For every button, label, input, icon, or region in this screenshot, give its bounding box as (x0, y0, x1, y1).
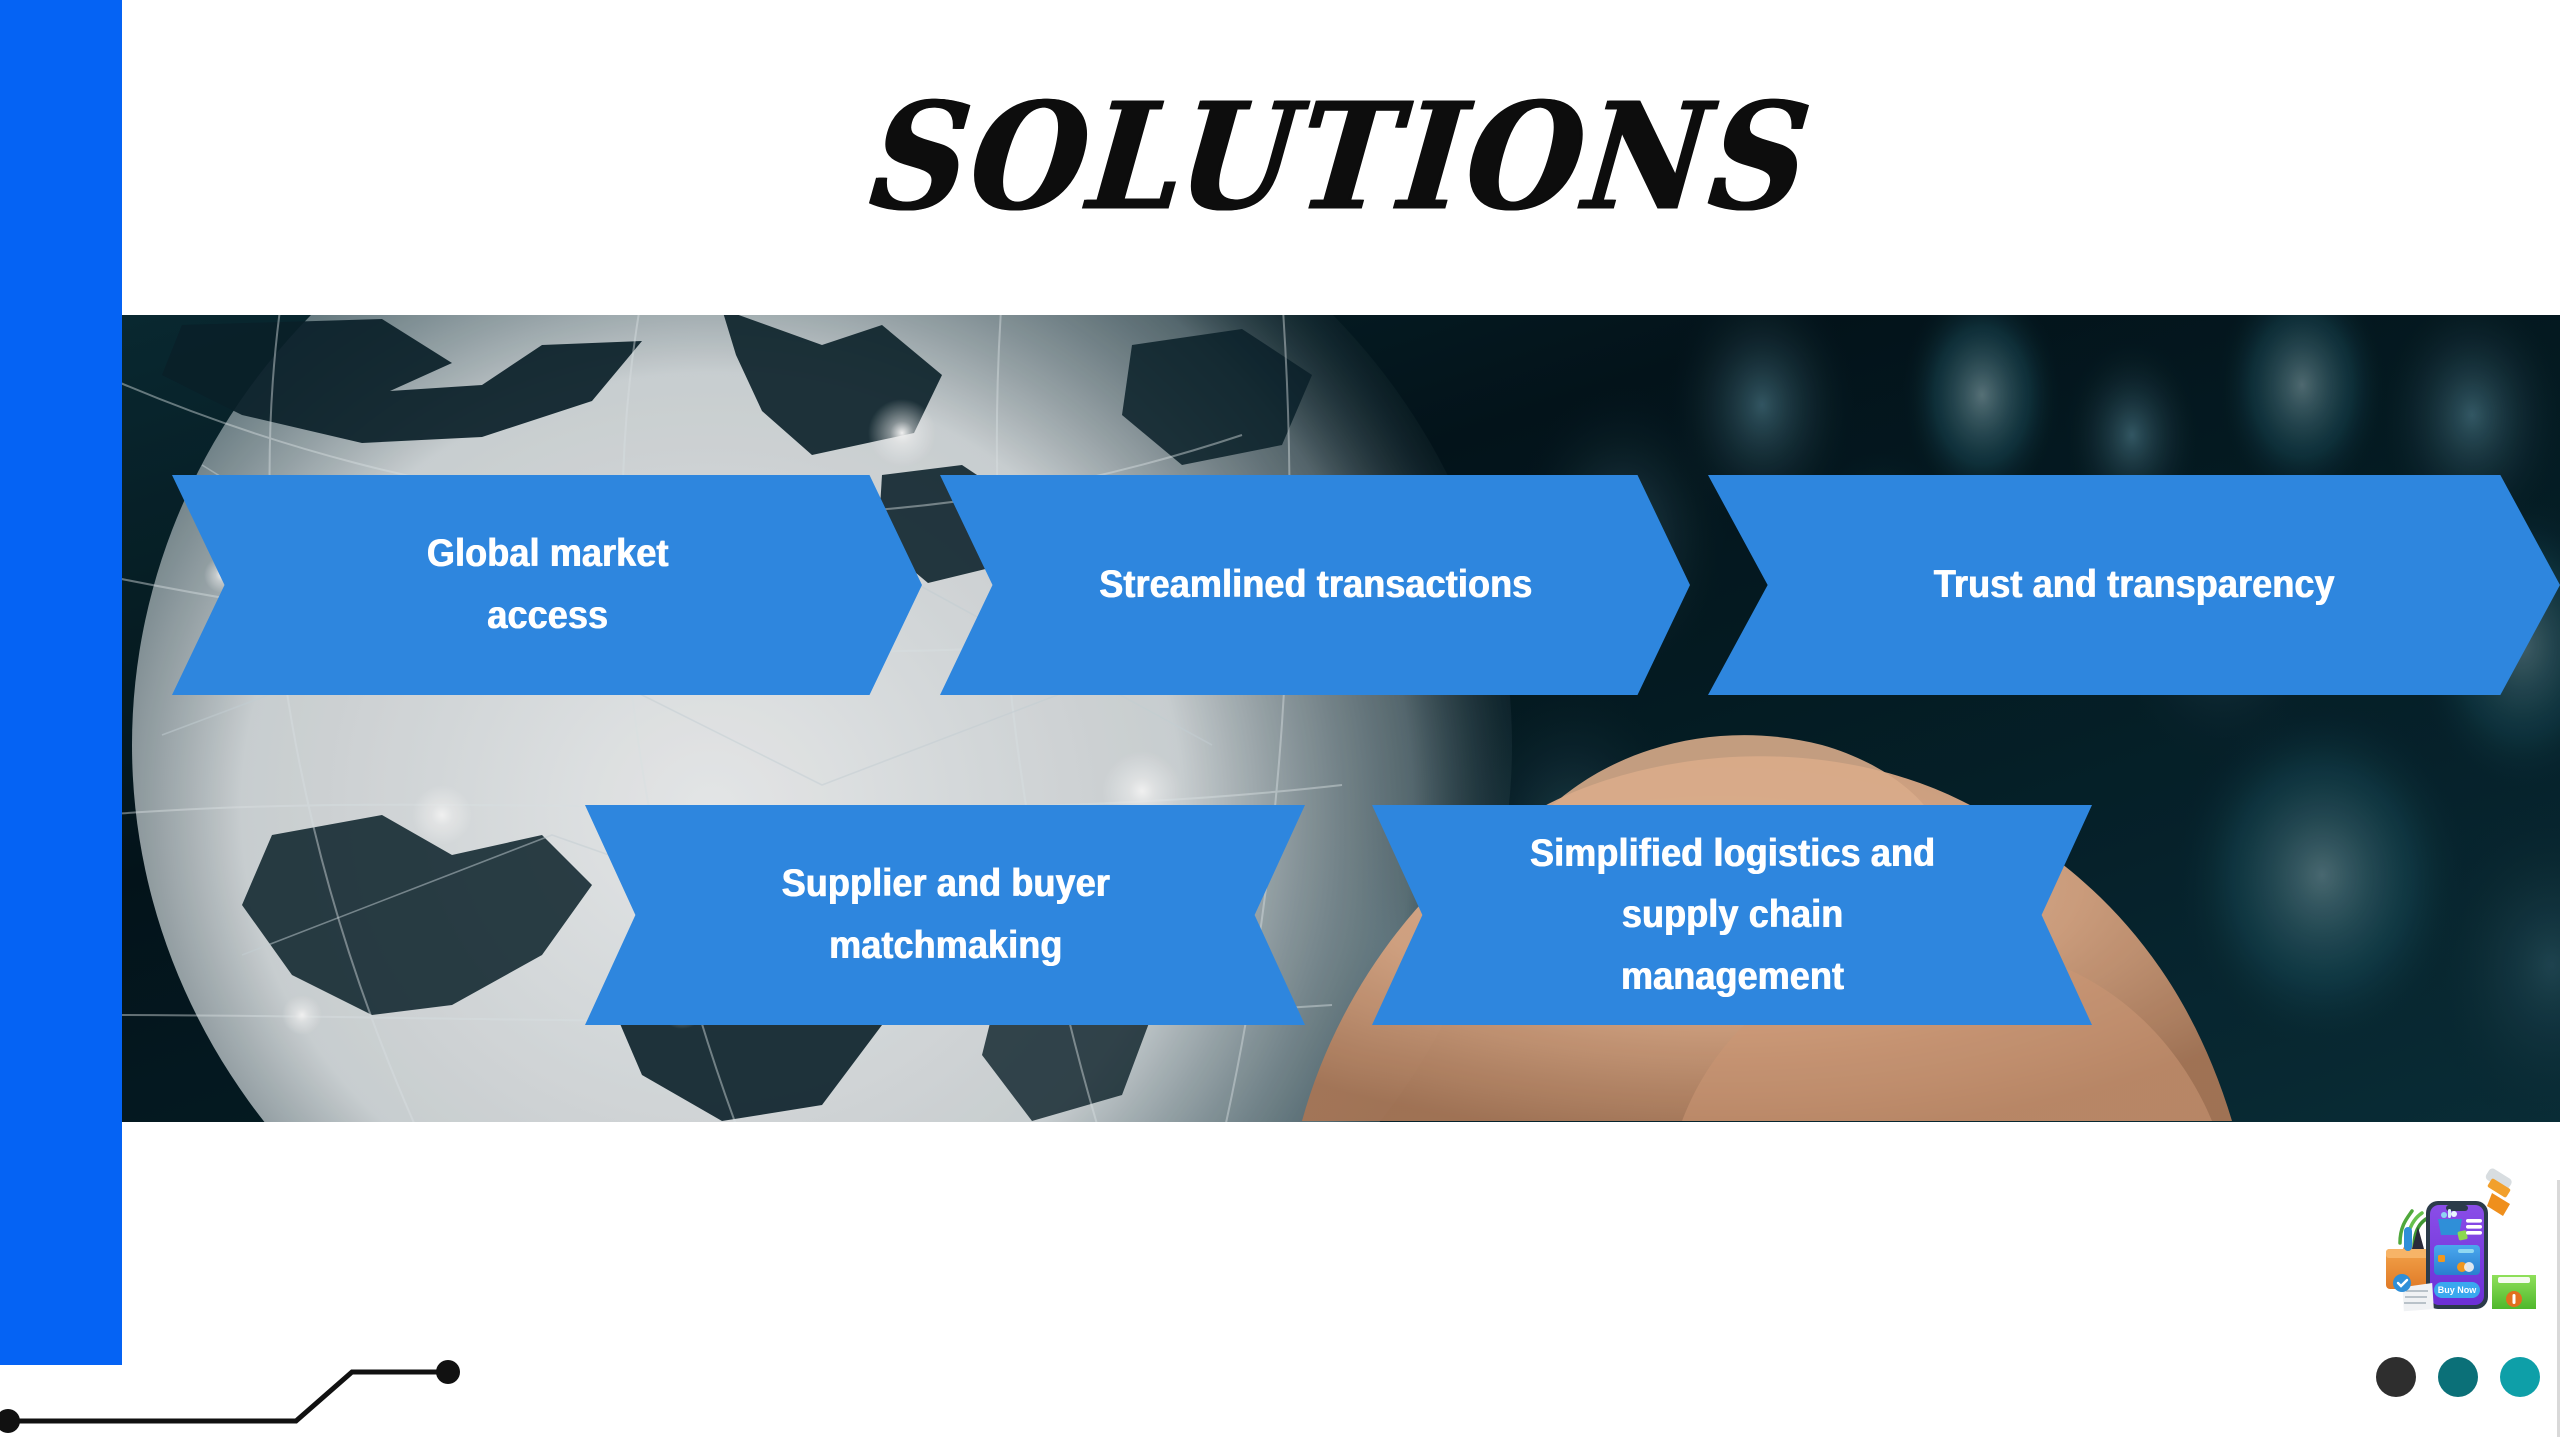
solution-banner-label: Trust and transparency (1910, 554, 2359, 616)
solution-banner-streamlined-transactions[interactable]: Streamlined transactions (940, 475, 1690, 695)
smartphone-icon: Buy Now (2426, 1201, 2488, 1309)
dot-teal (2500, 1357, 2540, 1397)
solution-banner-label: Global marketaccess (402, 523, 692, 646)
background-photo (122, 315, 2560, 1122)
decorative-connector-line (0, 1317, 520, 1437)
dot-dark-teal (2438, 1357, 2478, 1397)
solution-banner-trust-and-transparency[interactable]: Trust and transparency (1708, 475, 2560, 695)
solution-banner-label: Streamlined transactions (1075, 554, 1556, 616)
slide-root: SOLUTIONS (0, 0, 2560, 1437)
coffee-cup-icon (2484, 1167, 2513, 1216)
dot-charcoal (2376, 1357, 2416, 1397)
background-photo-band: Global marketaccess Streamlined transact… (122, 315, 2560, 1122)
left-accent-bar (0, 0, 122, 1365)
buy-now-label: Buy Now (2438, 1285, 2478, 1295)
plant-icon (2400, 1211, 2426, 1247)
solution-banner-supplier-buyer-matchmaking[interactable]: Supplier and buyermatchmaking (585, 805, 1305, 1025)
solution-banner-label: Supplier and buyermatchmaking (757, 853, 1133, 976)
solution-banner-global-market-access[interactable]: Global marketaccess (172, 475, 922, 695)
solution-banner-label: Simplified logistics andsupply chainmana… (1506, 823, 1959, 1008)
page-title-area: SOLUTIONS (122, 0, 2560, 315)
page-title: SOLUTIONS (863, 71, 1819, 245)
decorative-dots (2376, 1357, 2540, 1397)
solution-banner-simplified-logistics[interactable]: Simplified logistics andsupply chainmana… (1372, 805, 2092, 1025)
package-box-icon (2492, 1275, 2536, 1309)
ecommerce-shopping-illustration: Buy Now (2374, 1167, 2542, 1317)
verified-badge-icon (2393, 1274, 2411, 1292)
